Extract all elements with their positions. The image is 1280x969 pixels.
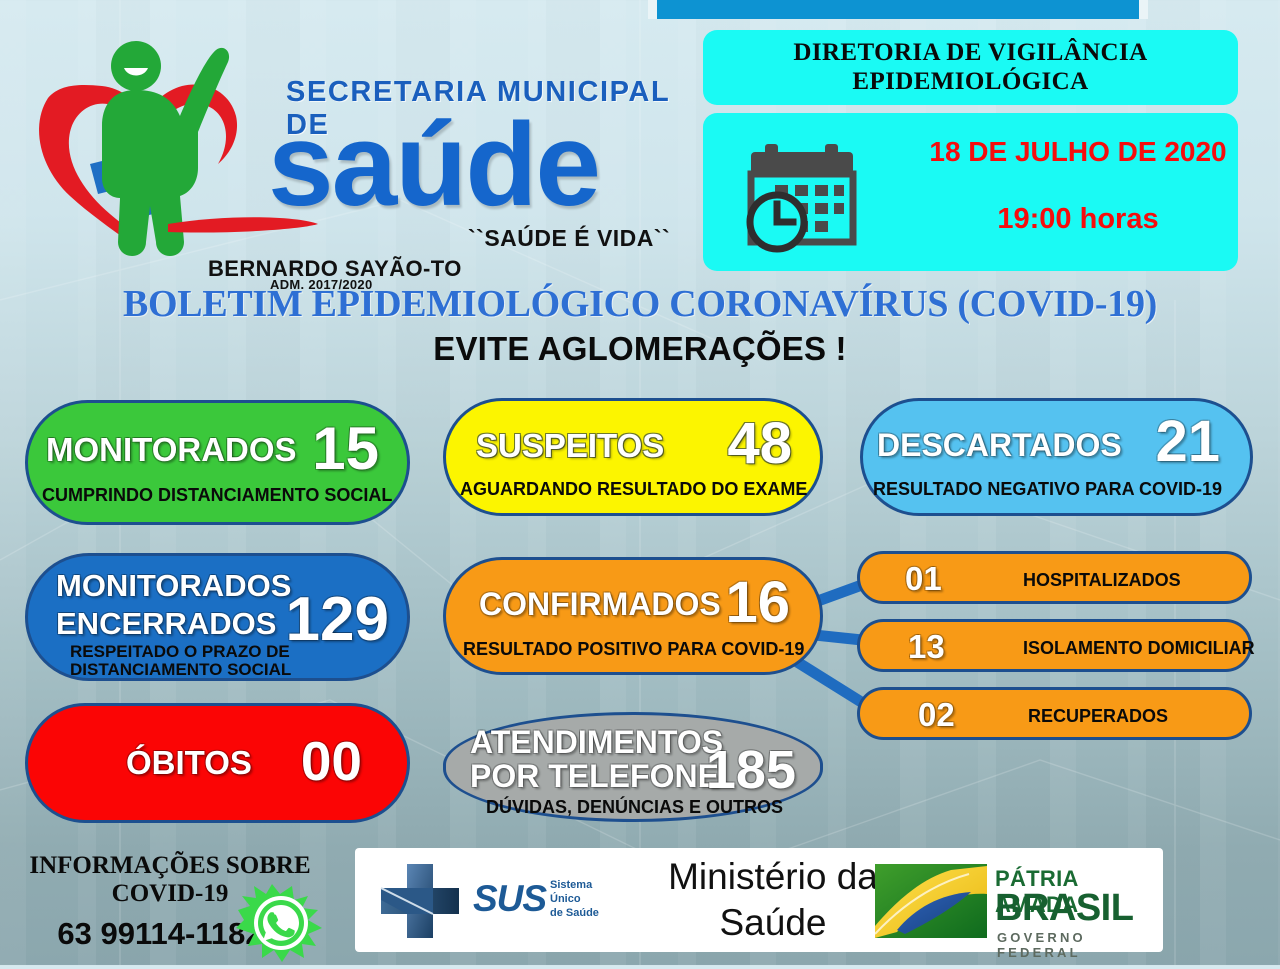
card-encerrados-subtitle-line1: RESPEITADO O PRAZO DE <box>70 643 290 662</box>
card-encerrados-value: 129 <box>286 589 389 651</box>
card-atendimentos-subtitle: DÚVIDAS, DENÚNCIAS E OUTROS <box>486 798 783 818</box>
card-recuperados-label: RECUPERADOS <box>1028 707 1168 727</box>
logo-slogan: ``SAÚDE É VIDA`` <box>468 225 670 252</box>
date-time-box: 18 DE JULHO DE 2020 19:00 horas <box>703 113 1238 271</box>
secretaria-logo: SECRETARIA MUNICIPAL DE saúde ``SAÚDE É … <box>18 28 708 263</box>
card-obitos: ÓBITOS 00 <box>25 703 410 823</box>
card-suspeitos-value: 48 <box>727 415 792 473</box>
patria-line3: GOVERNO FEDERAL <box>997 930 1163 960</box>
brazil-flag-icon <box>875 864 987 938</box>
card-atendimentos-value: 185 <box>706 743 796 797</box>
sus-subtitle-line2: Único <box>550 892 599 906</box>
sus-subtitle-line1: Sistema <box>550 878 599 892</box>
card-isolamento-value: 13 <box>908 630 945 663</box>
sus-subtitle-line3: de Saúde <box>550 906 599 920</box>
card-suspeitos-title: SUSPEITOS <box>476 429 664 462</box>
bulletin-date: 18 DE JULHO DE 2020 <box>928 135 1228 169</box>
card-monitorados: MONITORADOS 15 CUMPRINDO DISTANCIAMENTO … <box>25 400 410 525</box>
footer-logo-bar: SUS Sistema Único de Saúde Ministério da… <box>355 848 1163 952</box>
bulletin-time: 19:00 horas <box>928 203 1228 236</box>
department-line1: DIRETORIA DE VIGILÂNCIA <box>793 39 1147 68</box>
sus-acronym: SUS <box>473 878 546 920</box>
card-suspeitos-subtitle: AGUARDANDO RESULTADO DO EXAME <box>460 480 807 500</box>
card-descartados-value: 21 <box>1155 413 1220 471</box>
sus-subtitle: Sistema Único de Saúde <box>550 878 599 920</box>
page-subtitle: EVITE AGLOMERAÇÕES ! <box>0 330 1280 368</box>
page-title: BOLETIM EPIDEMIOLÓGICO CORONAVÍRUS (COVI… <box>0 282 1280 326</box>
card-recuperados: 02 RECUPERADOS <box>857 687 1252 740</box>
card-descartados: DESCARTADOS 21 RESULTADO NEGATIVO PARA C… <box>860 398 1253 516</box>
card-atendimentos: ATENDIMENTOS POR TELEFONE 185 DÚVIDAS, D… <box>443 712 823 822</box>
card-confirmados-value: 16 <box>725 574 790 632</box>
card-encerrados-subtitle-line2: DISTANCIAMENTO SOCIAL <box>70 661 291 680</box>
card-hospitalizados: 01 HOSPITALIZADOS <box>857 551 1252 604</box>
card-monitorados-value: 15 <box>312 419 379 479</box>
card-obitos-title: ÓBITOS <box>126 746 252 779</box>
card-encerrados-title-line1: MONITORADOS <box>56 570 291 601</box>
card-descartados-subtitle: RESULTADO NEGATIVO PARA COVID-19 <box>873 480 1222 500</box>
card-isolamento-domiciliar: 13 ISOLAMENTO DOMICILIAR <box>857 619 1252 672</box>
card-hospitalizados-value: 01 <box>905 562 942 595</box>
card-monitorados-subtitle: CUMPRINDO DISTANCIAMENTO SOCIAL <box>42 486 392 506</box>
card-confirmados: CONFIRMADOS 16 RESULTADO POSITIVO PARA C… <box>443 557 823 675</box>
top-accent-bar <box>648 0 1148 19</box>
logo-wordmark: saúde <box>268 106 599 224</box>
card-suspeitos: SUSPEITOS 48 AGUARDANDO RESULTADO DO EXA… <box>443 398 823 516</box>
card-recuperados-value: 02 <box>918 698 955 731</box>
sus-cross-icon <box>377 862 465 940</box>
card-confirmados-subtitle: RESULTADO POSITIVO PARA COVID-19 <box>463 640 804 660</box>
card-atendimentos-title-line1: ATENDIMENTOS <box>470 726 723 758</box>
card-hospitalizados-label: HOSPITALIZADOS <box>1023 571 1181 591</box>
calendar-clock-icon <box>743 138 893 256</box>
card-atendimentos-title-line2: POR TELEFONE <box>470 760 719 792</box>
top-accent-bar-cap-right <box>1139 0 1148 19</box>
department-line2: EPIDEMIOLÓGICA <box>852 68 1088 97</box>
card-monitorados-encerrados: MONITORADOS ENCERRADOS 129 RESPEITADO O … <box>25 553 410 681</box>
whatsapp-icon <box>236 884 328 964</box>
department-box: DIRETORIA DE VIGILÂNCIA EPIDEMIOLÓGICA <box>703 30 1238 105</box>
card-monitorados-title: MONITORADOS <box>46 433 297 466</box>
card-obitos-value: 00 <box>301 734 362 789</box>
card-descartados-title: DESCARTADOS <box>877 429 1122 461</box>
top-accent-bar-cap-left <box>648 0 657 19</box>
footer-info-line1: INFORMAÇÕES SOBRE <box>20 852 320 880</box>
card-isolamento-label: ISOLAMENTO DOMICILIAR <box>1023 639 1255 659</box>
patria-line2: BRASIL <box>995 889 1133 927</box>
card-confirmados-title: CONFIRMADOS <box>479 588 721 620</box>
card-encerrados-title-line2: ENCERRADOS <box>56 608 276 639</box>
